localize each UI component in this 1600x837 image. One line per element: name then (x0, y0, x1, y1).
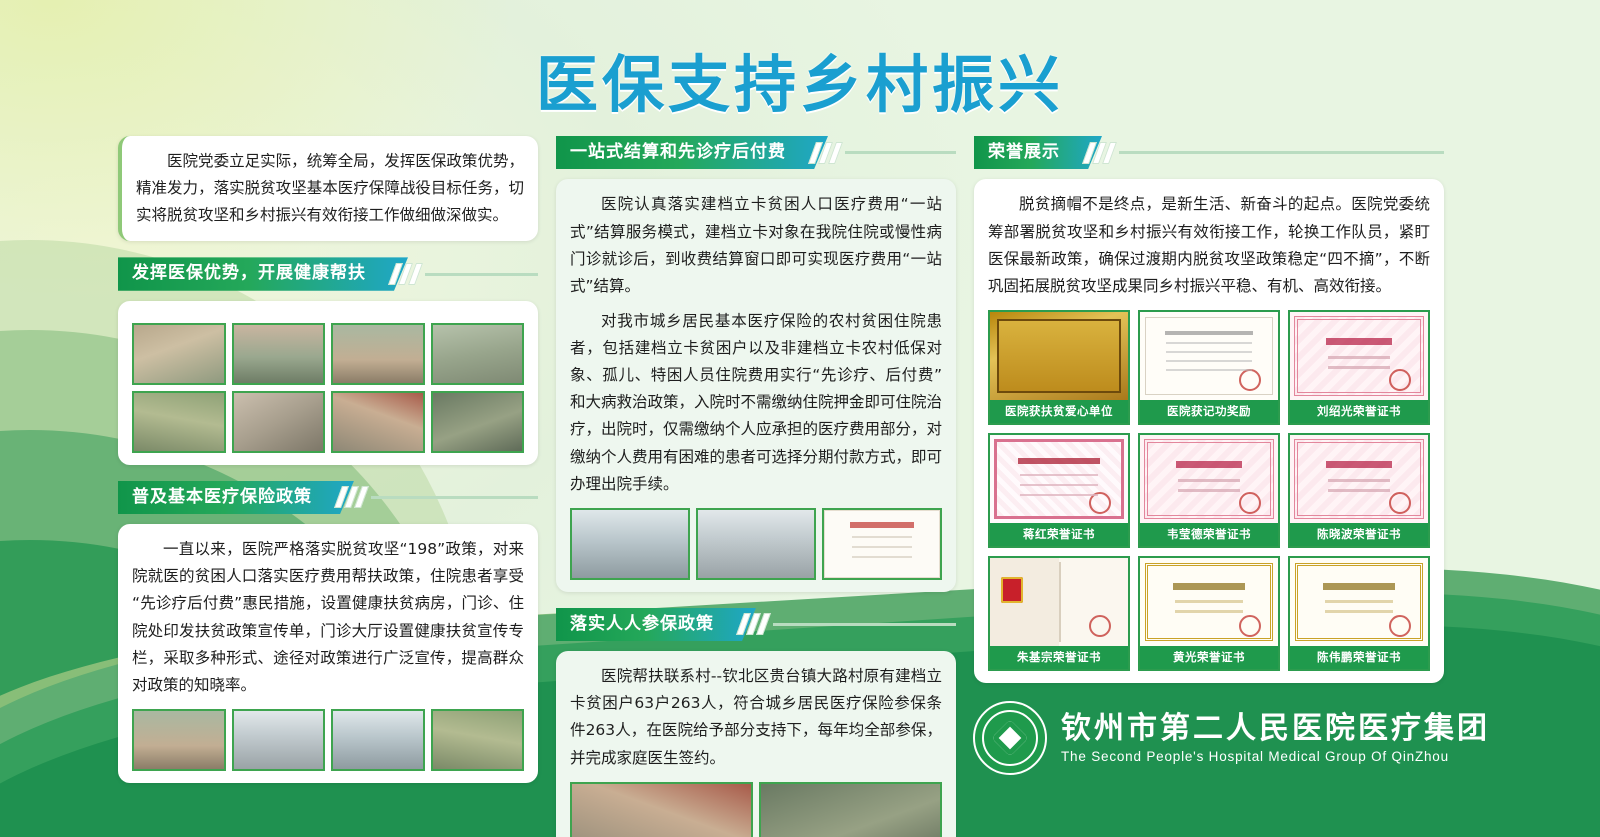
hospital-logo-icon (973, 701, 1047, 775)
section-divider (773, 623, 956, 626)
policy-photo-grid (132, 709, 524, 771)
section-honors-header: 荣誉展示 (974, 136, 1444, 169)
certificate-image (990, 435, 1128, 523)
certificate-image (1140, 435, 1278, 523)
settlement-paragraph-2: 对我市城乡居民基本医疗保险的农村贫困住院患者，包括建档立卡贫困户以及非建档立卡农… (570, 308, 942, 498)
photo-item (431, 709, 525, 771)
certificate-card: 医院获扶贫爱心单位 (988, 310, 1130, 425)
photo-item (132, 709, 226, 771)
section-health-header: 发挥医保优势，开展健康帮扶 (118, 257, 538, 290)
certificate-image (1290, 312, 1428, 400)
certificate-image (1290, 558, 1428, 646)
column-middle: 一站式结算和先诊疗后付费 医院认真落实建档立卡贫困人口医疗费用“一站式”结算服务… (556, 136, 956, 837)
photo-item (132, 323, 226, 385)
section-insurance-header: 落实人人参保政策 (556, 608, 956, 641)
hospital-logo-block: 钦州市第二人民医院医疗集团 The Second People's Hospit… (973, 701, 1490, 775)
certificate-caption: 朱基宗荣誉证书 (990, 646, 1128, 669)
poster-root: 医保支持乡村振兴 医院党委立足实际，统筹全局，发挥医保政策优势，精准发力，落实脱… (0, 0, 1600, 837)
section-settlement-title: 一站式结算和先诊疗后付费 (556, 136, 828, 169)
certificate-card: 刘绍光荣誉证书 (1288, 310, 1430, 425)
poster-title: 医保支持乡村振兴 (0, 34, 1600, 124)
photo-item (822, 508, 942, 580)
certificate-caption: 医院获记功奖励 (1140, 400, 1278, 423)
slash-decoration-icon (1086, 142, 1113, 164)
poster-header: 医保支持乡村振兴 (0, 0, 1600, 124)
photo-item (331, 323, 425, 385)
hospital-name-en: The Second People's Hospital Medical Gro… (1061, 749, 1490, 764)
certificate-card: 蒋红荣誉证书 (988, 433, 1130, 548)
section-health-assistance: 发挥医保优势，开展健康帮扶 (118, 257, 538, 464)
photo-item (232, 709, 326, 771)
section-policy-header: 普及基本医疗保险政策 (118, 481, 538, 514)
section-policy-title: 普及基本医疗保险政策 (118, 481, 354, 514)
certificate-card: 朱基宗荣誉证书 (988, 556, 1130, 671)
photo-item (759, 782, 942, 837)
section-one-stop-settlement: 一站式结算和先诊疗后付费 医院认真落实建档立卡贫困人口医疗费用“一站式”结算服务… (556, 136, 956, 592)
column-right: 荣誉展示 脱贫摘帽不是终点，是新生活、新奋斗的起点。医院党委统筹部署脱贫攻坚和乡… (974, 136, 1444, 699)
certificate-card: 陈晓波荣誉证书 (1288, 433, 1430, 548)
certificate-caption: 医院获扶贫爱心单位 (990, 400, 1128, 423)
section-honors: 荣誉展示 脱贫摘帽不是终点，是新生活、新奋斗的起点。医院党委统筹部署脱贫攻坚和乡… (974, 136, 1444, 683)
slash-decoration-icon (392, 263, 419, 285)
photo-item (331, 709, 425, 771)
certificate-card: 陈伟鹏荣誉证书 (1288, 556, 1430, 671)
section-health-title: 发挥医保优势，开展健康帮扶 (118, 257, 408, 290)
section-divider (845, 151, 956, 154)
photo-item (232, 323, 326, 385)
certificate-image (990, 558, 1128, 646)
section-honors-title: 荣誉展示 (974, 136, 1102, 169)
honors-paragraph: 脱贫摘帽不是终点，是新生活、新奋斗的起点。医院党委统筹部署脱贫攻坚和乡村振兴有效… (988, 191, 1430, 300)
section-basic-insurance-policy: 普及基本医疗保险政策 一直以来，医院严格落实脱贫攻坚“198”政策，对来院就医的… (118, 481, 538, 783)
certificate-image (990, 312, 1128, 400)
section-divider (371, 496, 538, 499)
photo-item (431, 323, 525, 385)
certificate-caption: 陈伟鹏荣誉证书 (1290, 646, 1428, 669)
certificate-caption: 蒋红荣誉证书 (990, 523, 1128, 546)
logo-gem-shape (992, 720, 1029, 757)
certificate-caption: 陈晓波荣誉证书 (1290, 523, 1428, 546)
section-settlement-body: 医院认真落实建档立卡贫困人口医疗费用“一站式”结算服务模式，建档立卡对象在我院住… (556, 179, 956, 591)
certificate-grid: 医院获扶贫爱心单位 医院获记功奖励 刘绍光荣誉证书 蒋红荣誉证书 (988, 310, 1430, 671)
photo-item (431, 391, 525, 453)
intro-paragraph: 医院党委立足实际，统筹全局，发挥医保政策优势，精准发力，落实脱贫攻坚基本医疗保障… (136, 148, 524, 229)
column-left: 医院党委立足实际，统筹全局，发挥医保政策优势，精准发力，落实脱贫攻坚基本医疗保障… (118, 136, 538, 799)
section-insurance-title: 落实人人参保政策 (556, 608, 756, 641)
certificate-caption: 刘绍光荣誉证书 (1290, 400, 1428, 423)
policy-paragraph: 一直以来，医院严格落实脱贫攻坚“198”政策，对来院就医的贫困人口落实医疗费用帮… (132, 536, 524, 699)
photo-item (696, 508, 816, 580)
section-divider (425, 273, 538, 276)
section-policy-body: 一直以来，医院严格落实脱贫攻坚“198”政策，对来院就医的贫困人口落实医疗费用帮… (118, 524, 538, 783)
certificate-card: 韦莹德荣誉证书 (1138, 433, 1280, 548)
section-universal-insurance: 落实人人参保政策 医院帮扶联系村--钦北区贵台镇大路村原有建档立卡贫困户63户2… (556, 608, 956, 837)
section-insurance-body: 医院帮扶联系村--钦北区贵台镇大路村原有建档立卡贫困户63户263人，符合城乡居… (556, 651, 956, 837)
slash-decoration-icon (812, 142, 839, 164)
section-settlement-header: 一站式结算和先诊疗后付费 (556, 136, 956, 169)
section-divider (1119, 151, 1444, 154)
photo-item (232, 391, 326, 453)
hospital-name-block: 钦州市第二人民医院医疗集团 The Second People's Hospit… (1061, 712, 1490, 765)
photo-item (570, 508, 690, 580)
certificate-image (1290, 435, 1428, 523)
photo-item (570, 782, 753, 837)
hospital-name-cn: 钦州市第二人民医院医疗集团 (1061, 712, 1490, 747)
health-photo-grid (132, 323, 524, 453)
certificate-image (1140, 312, 1278, 400)
insurance-photo-grid (570, 782, 942, 837)
certificate-card: 黄光荣誉证书 (1138, 556, 1280, 671)
section-honors-body: 脱贫摘帽不是终点，是新生活、新奋斗的起点。医院党委统筹部署脱贫攻坚和乡村振兴有效… (974, 179, 1444, 683)
settlement-paragraph-1: 医院认真落实建档立卡贫困人口医疗费用“一站式”结算服务模式，建档立卡对象在我院住… (570, 191, 942, 300)
certificate-caption: 韦莹德荣誉证书 (1140, 523, 1278, 546)
certificate-card: 医院获记功奖励 (1138, 310, 1280, 425)
certificate-image (1140, 558, 1278, 646)
section-health-body (118, 301, 538, 465)
insurance-paragraph: 医院帮扶联系村--钦北区贵台镇大路村原有建档立卡贫困户63户263人，符合城乡居… (570, 663, 942, 772)
intro-card: 医院党委立足实际，统筹全局，发挥医保政策优势，精准发力，落实脱贫攻坚基本医疗保障… (118, 136, 538, 241)
photo-item (331, 391, 425, 453)
certificate-caption: 黄光荣誉证书 (1140, 646, 1278, 669)
photo-item (132, 391, 226, 453)
settlement-photo-grid (570, 508, 942, 580)
